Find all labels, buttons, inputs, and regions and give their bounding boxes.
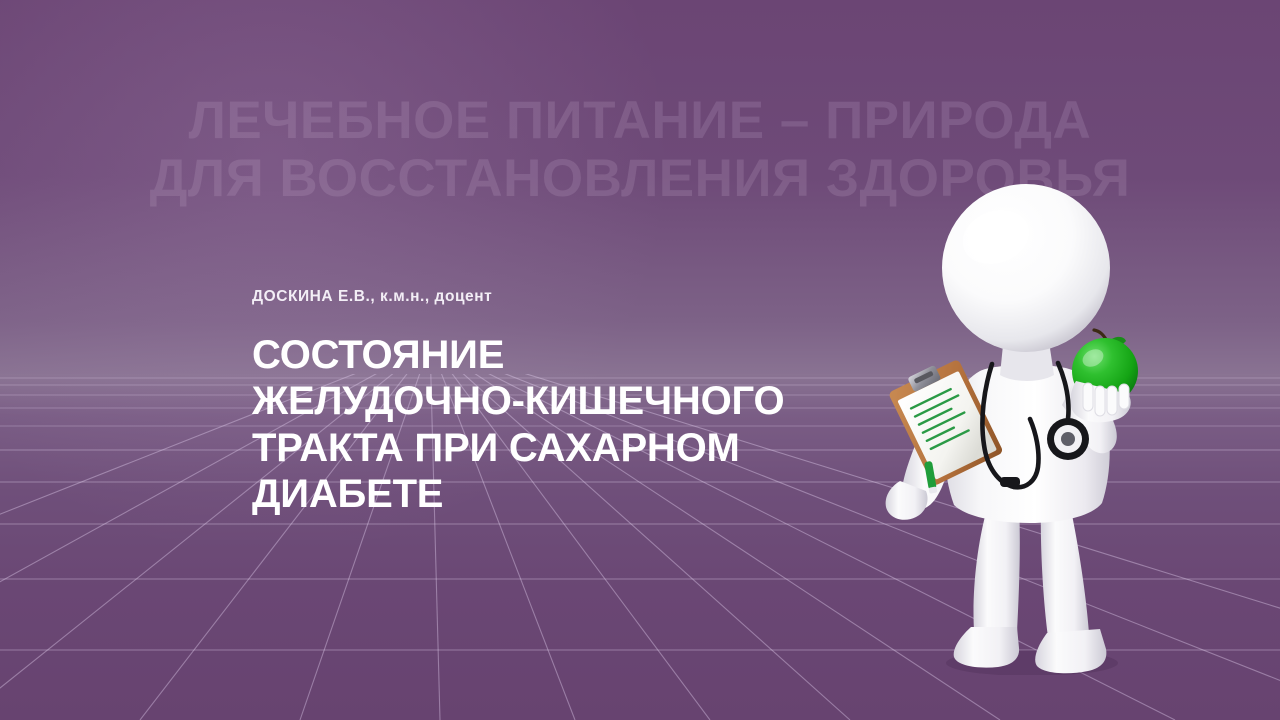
right-foot — [1035, 629, 1106, 673]
title-line-3: ТРАКТА ПРИ САХАРНОМ — [252, 425, 942, 471]
head — [942, 184, 1110, 352]
stethoscope-diaphragm — [1061, 432, 1075, 446]
legs — [954, 505, 1107, 673]
author-name: ДОСКИНА Е.В., к.м.н., доцент — [252, 288, 942, 306]
page-title: СОСТОЯНИЕ ЖЕЛУДОЧНО-КИШЕЧНОГО ТРАКТА ПРИ… — [252, 332, 942, 518]
presentation-slide: ЛЕЧЕБНОЕ ПИТАНИЕ – ПРИРОДА ДЛЯ ВОССТАНОВ… — [0, 0, 1280, 720]
watermark-line-1: ЛЕЧЕБНОЕ ПИТАНИЕ – ПРИРОДА — [0, 92, 1280, 150]
title-line-1: СОСТОЯНИЕ — [252, 332, 942, 378]
left-foot — [954, 627, 1019, 668]
stethoscope-clip — [1000, 477, 1020, 487]
doctor-illustration — [880, 175, 1180, 675]
doctor-mannequin-figure — [880, 175, 1180, 675]
right-hand — [1070, 381, 1130, 422]
title-line-4: ДИАБЕТЕ — [252, 471, 942, 517]
slide-text-block: ДОСКИНА Е.В., к.м.н., доцент СОСТОЯНИЕ Ж… — [252, 288, 942, 518]
title-line-2: ЖЕЛУДОЧНО-КИШЕЧНОГО — [252, 378, 942, 424]
